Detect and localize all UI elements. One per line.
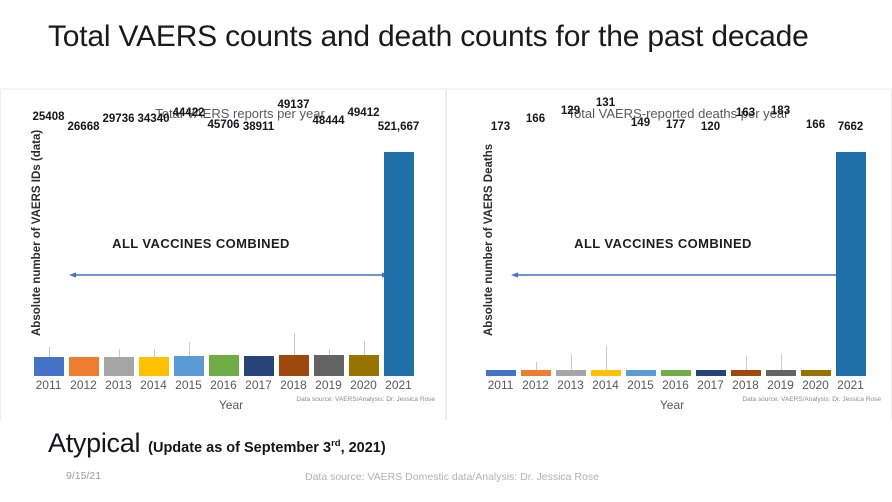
bar-2015[interactable] xyxy=(626,370,656,376)
x-tick-2014: 2014 xyxy=(136,378,171,392)
bar-2020[interactable] xyxy=(801,370,831,376)
bar-2021[interactable] xyxy=(384,152,414,376)
bar-2016[interactable] xyxy=(661,370,691,376)
x-tick-2016: 2016 xyxy=(658,378,693,392)
bar-value-label: 45706 xyxy=(208,119,240,131)
bar-value-label: 7662 xyxy=(838,121,864,133)
footer-keyword: Atypical xyxy=(48,428,140,459)
bar-slot: 131 xyxy=(588,136,623,376)
bar-value-label: 166 xyxy=(806,119,825,131)
bar-2012[interactable] xyxy=(69,357,99,376)
bar-slot: 38911 xyxy=(241,136,276,376)
bar-2018[interactable] xyxy=(279,355,309,376)
bar-value-label: 38911 xyxy=(243,121,274,133)
footer-heading: Atypical (Update as of September 3rd, 20… xyxy=(48,428,386,459)
footer-source: Data source: VAERS Domestic data/Analysi… xyxy=(305,471,599,483)
x-tick-2019: 2019 xyxy=(763,378,798,392)
chart-source-deaths: Data source: VAERS/Analysis: Dr. Jessica… xyxy=(742,396,881,403)
label-leader-line xyxy=(119,349,120,357)
bar-2011[interactable] xyxy=(34,357,64,376)
bar-2015[interactable] xyxy=(174,356,204,376)
bar-value-label: 49412 xyxy=(348,107,380,119)
bar-2013[interactable] xyxy=(104,357,134,376)
bar-2014[interactable] xyxy=(139,357,169,376)
label-leader-line xyxy=(49,347,50,357)
footer-date: 9/15/21 xyxy=(66,470,101,482)
x-tick-2011: 2011 xyxy=(483,378,518,392)
charts-band: Total VAERS reports per year Absolute nu… xyxy=(0,90,892,420)
bar-2020[interactable] xyxy=(349,355,379,376)
x-tick-2021: 2021 xyxy=(833,378,868,392)
bar-2019[interactable] xyxy=(766,370,796,376)
label-leader-line xyxy=(154,349,155,357)
x-tick-2015: 2015 xyxy=(171,378,206,392)
bar-slot: 25408 xyxy=(31,136,66,376)
bar-value-label: 129 xyxy=(561,105,580,117)
x-tick-2018: 2018 xyxy=(276,378,311,392)
x-tick-2011: 2011 xyxy=(31,378,66,392)
x-tick-2018: 2018 xyxy=(728,378,763,392)
bar-slot: 7662 xyxy=(833,136,868,376)
chart-source-reports: Data source: VAERS/Analysis: Dr. Jessica… xyxy=(296,396,435,403)
bar-slot: 34340 xyxy=(136,136,171,376)
footer-note-ordinal: rd xyxy=(331,438,341,449)
x-tick-2015: 2015 xyxy=(623,378,658,392)
bar-value-label: 34340 xyxy=(138,113,170,125)
plot-area-reports: ALL VACCINES COMBINED 254082666829736343… xyxy=(31,136,437,376)
bar-2014[interactable] xyxy=(591,370,621,376)
bar-slot: 149 xyxy=(623,136,658,376)
bar-slot: 45706 xyxy=(206,136,241,376)
page-title: Total VAERS counts and death counts for … xyxy=(48,20,809,54)
bar-value-label: 44422 xyxy=(173,107,205,119)
bar-slot: 29736 xyxy=(101,136,136,376)
bar-value-label: 173 xyxy=(491,121,510,133)
bar-value-label: 25408 xyxy=(33,111,65,123)
bar-value-label: 29736 xyxy=(103,113,135,125)
label-leader-line xyxy=(571,354,572,370)
bar-slot: 26668 xyxy=(66,136,101,376)
x-axis-deaths: 2011201220132014201520162017201820192020… xyxy=(483,378,883,392)
x-tick-2017: 2017 xyxy=(241,378,276,392)
bar-slot: 129 xyxy=(553,136,588,376)
bar-2018[interactable] xyxy=(731,370,761,376)
bar-value-label: 183 xyxy=(771,105,790,117)
slide-canvas: Total VAERS counts and death counts for … xyxy=(0,0,892,502)
label-leader-line xyxy=(781,354,782,370)
footer-update-note: (Update as of September 3rd, 2021) xyxy=(148,438,386,456)
x-tick-2021: 2021 xyxy=(381,378,416,392)
label-leader-line xyxy=(746,356,747,370)
x-tick-2012: 2012 xyxy=(66,378,101,392)
footer-note-suffix: , 2021) xyxy=(341,440,386,456)
label-leader-line xyxy=(606,346,607,370)
x-tick-2012: 2012 xyxy=(518,378,553,392)
x-tick-2014: 2014 xyxy=(588,378,623,392)
bar-2017[interactable] xyxy=(244,356,274,376)
bar-slot: 177 xyxy=(658,136,693,376)
bar-slot: 521,667 xyxy=(381,136,416,376)
label-leader-line xyxy=(189,342,190,356)
x-tick-2013: 2013 xyxy=(553,378,588,392)
label-leader-line xyxy=(536,362,537,370)
title-bar: Total VAERS counts and death counts for … xyxy=(0,0,892,88)
bar-value-label: 166 xyxy=(526,113,545,125)
bar-value-label: 177 xyxy=(666,119,685,131)
bar-value-label: 521,667 xyxy=(378,121,420,133)
footer: Atypical (Update as of September 3rd, 20… xyxy=(0,420,892,502)
x-tick-2020: 2020 xyxy=(346,378,381,392)
bar-value-label: 120 xyxy=(701,121,720,133)
x-axis-reports: 2011201220132014201520162017201820192020… xyxy=(31,378,437,392)
bar-value-label: 48444 xyxy=(313,115,345,127)
bar-slot: 163 xyxy=(728,136,763,376)
bar-2011[interactable] xyxy=(486,370,516,376)
bar-value-label: 163 xyxy=(736,107,755,119)
bar-2012[interactable] xyxy=(521,370,551,376)
bar-group-reports: 2540826668297363434044422457063891149137… xyxy=(31,136,437,376)
label-leader-line xyxy=(294,333,295,355)
bar-value-label: 26668 xyxy=(68,121,100,133)
bar-2016[interactable] xyxy=(209,355,239,376)
x-tick-2020: 2020 xyxy=(798,378,833,392)
chart-panel-deaths: Total VAERS-reported deaths per year Abs… xyxy=(446,90,892,420)
bar-slot: 173 xyxy=(483,136,518,376)
bar-slot: 166 xyxy=(798,136,833,376)
bar-2021[interactable] xyxy=(836,152,866,376)
bar-slot: 49137 xyxy=(276,136,311,376)
bar-group-deaths: 1731661291311491771201631831667662 xyxy=(483,136,883,376)
x-tick-2019: 2019 xyxy=(311,378,346,392)
label-leader-line xyxy=(329,349,330,355)
x-tick-2016: 2016 xyxy=(206,378,241,392)
bar-slot: 49412 xyxy=(346,136,381,376)
bar-slot: 120 xyxy=(693,136,728,376)
bar-slot: 166 xyxy=(518,136,553,376)
bar-slot: 44422 xyxy=(171,136,206,376)
bar-slot: 183 xyxy=(763,136,798,376)
x-tick-2017: 2017 xyxy=(693,378,728,392)
plot-area-deaths: ALL VACCINES COMBINED 173166129131149177… xyxy=(483,136,883,376)
footer-note-prefix: (Update as of September 3 xyxy=(148,440,331,456)
bar-2017[interactable] xyxy=(696,370,726,376)
bar-value-label: 49137 xyxy=(278,99,310,111)
chart-panel-reports: Total VAERS reports per year Absolute nu… xyxy=(0,90,446,420)
bar-2019[interactable] xyxy=(314,355,344,376)
x-tick-2013: 2013 xyxy=(101,378,136,392)
bar-slot: 48444 xyxy=(311,136,346,376)
bar-value-label: 131 xyxy=(596,97,615,109)
bar-value-label: 149 xyxy=(631,117,650,129)
label-leader-line xyxy=(364,341,365,355)
bar-2013[interactable] xyxy=(556,370,586,376)
